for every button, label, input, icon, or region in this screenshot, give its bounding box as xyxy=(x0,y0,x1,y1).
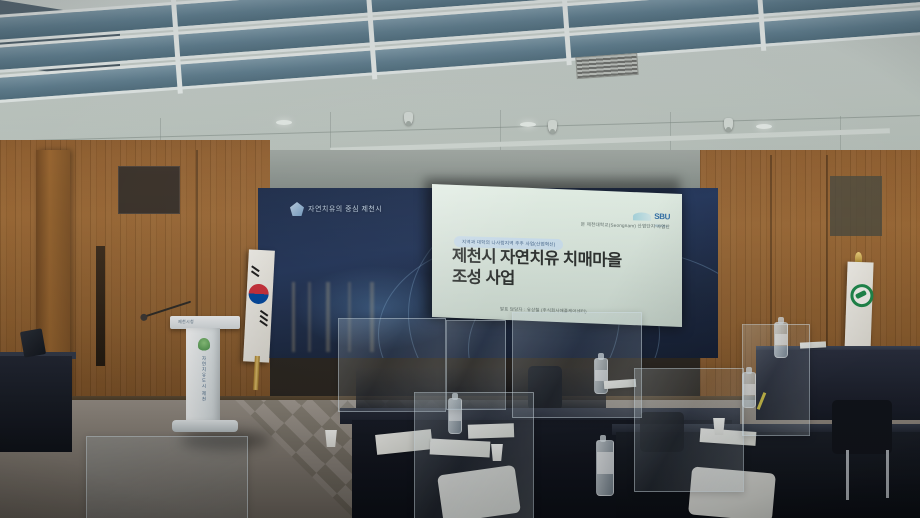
podium: 제천시청 자연치유도시 제천 xyxy=(178,316,232,438)
slide-logo-word: SBU xyxy=(654,212,670,221)
ceiling-downlight xyxy=(756,124,772,129)
sprinkler-head xyxy=(548,120,557,133)
sprinkler-head xyxy=(404,112,413,125)
projection-screen: SBU 세명대학교 본 제천대학교(Seongnam) 산업단지 사업단 지역과… xyxy=(432,184,682,327)
city-flag-emblem-icon xyxy=(850,284,874,308)
ceiling-downlight xyxy=(520,122,536,127)
podium-vertical-text: 자연치유도시 제천 xyxy=(201,356,207,402)
podium-base xyxy=(172,420,238,432)
podium-label: 제천시청 xyxy=(178,319,194,325)
water-bottle xyxy=(596,440,614,496)
slide-title: 제천시 자연치유 치매마을 조성 사업 xyxy=(452,246,672,295)
podium-emblem-icon xyxy=(198,338,210,352)
banner-logo-text: 자연치유의 중심 제천시 xyxy=(308,204,382,214)
chair xyxy=(832,400,892,454)
acrylic-divider xyxy=(414,392,534,518)
laptop xyxy=(20,328,46,357)
slide-logo-leaf-icon xyxy=(633,212,651,221)
photo-scene: 자연치유의 중심 제천시 SBU 세명대학교 본 제천대학교(Seongnam)… xyxy=(0,0,920,518)
acrylic-divider xyxy=(742,324,810,436)
left-table xyxy=(0,356,72,452)
door-gap xyxy=(96,246,105,366)
ceiling-vent xyxy=(575,53,638,79)
ceiling-downlight xyxy=(276,120,292,125)
banner-logo-icon xyxy=(290,202,304,216)
chair-leg xyxy=(886,450,889,498)
city-flag xyxy=(844,262,873,355)
acrylic-divider xyxy=(86,436,248,518)
sprinkler-head xyxy=(724,118,733,131)
ceiling-louver-grille xyxy=(0,0,920,124)
wall-panel-right xyxy=(830,176,882,236)
chair-leg xyxy=(846,450,849,500)
banner-logo: 자연치유의 중심 제천시 xyxy=(290,202,382,216)
acrylic-divider xyxy=(634,368,744,492)
slide-org-line: 본 제천대학교(Seongnam) 산업단지 사업단 xyxy=(581,222,670,231)
wall-vent-panel xyxy=(118,166,180,214)
podium-body: 자연치유도시 제천 xyxy=(186,328,220,422)
